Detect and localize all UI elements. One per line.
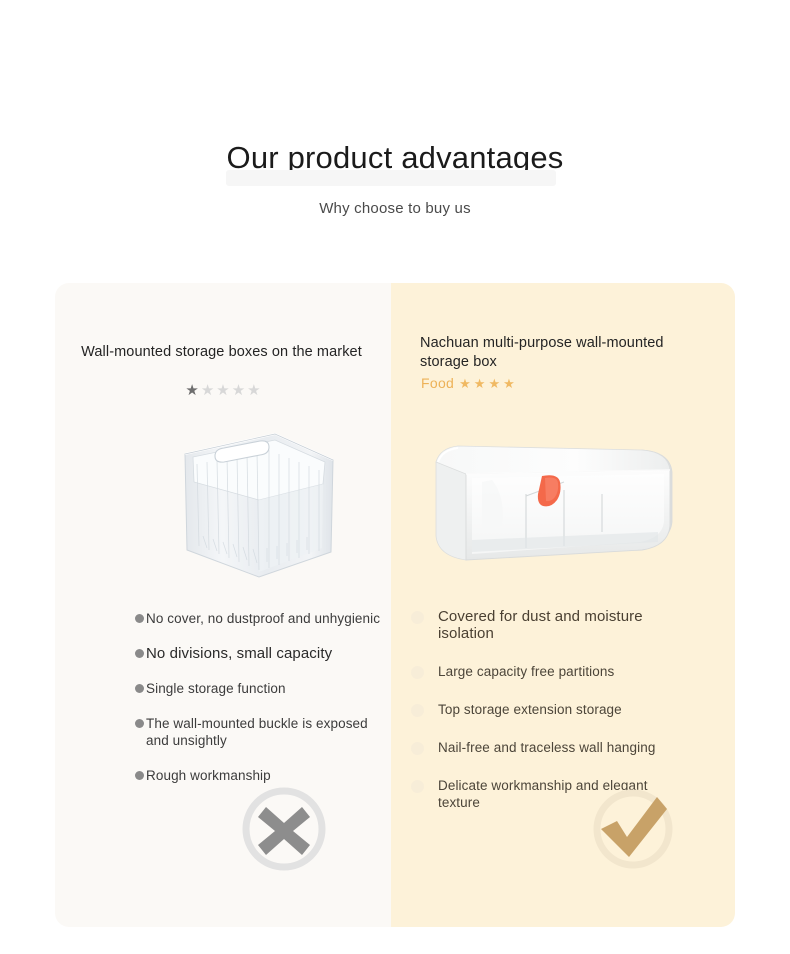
list-item: The wall-mounted buckle is exposed and u… xyxy=(135,715,385,749)
bullet-icon xyxy=(135,684,144,693)
list-item: Single storage function xyxy=(135,680,385,697)
competitor-feature-list: No cover, no dustproof and unhygienic No… xyxy=(135,610,385,802)
bullet-icon xyxy=(135,771,144,780)
star-icon: ★ xyxy=(474,376,486,391)
check-badge-icon xyxy=(591,787,675,871)
star-icon: ★ xyxy=(459,376,471,391)
our-product-image xyxy=(406,420,726,585)
page-title: Our product advantages xyxy=(0,0,790,178)
our-product-rating: Food ★ ★ ★ ★ xyxy=(421,375,701,391)
list-item: Rough workmanship xyxy=(135,767,385,784)
our-product-panel: Nachuan multi-purpose wall-mounted stora… xyxy=(391,283,735,927)
competitor-title: Wall-mounted storage boxes on the market xyxy=(55,343,394,362)
list-item-label: Single storage function xyxy=(146,681,286,696)
bullet-icon xyxy=(135,614,144,623)
star-icon: ★ xyxy=(201,383,214,398)
list-item: Large capacity free partitions xyxy=(400,663,665,680)
competitor-product-image xyxy=(163,420,353,585)
title-ghost-band xyxy=(226,170,556,186)
comparison-card: Wall-mounted storage boxes on the market… xyxy=(55,283,735,927)
bullet-icon xyxy=(411,704,424,717)
bullet-icon xyxy=(411,780,424,793)
bullet-icon xyxy=(135,649,144,658)
star-icon: ★ xyxy=(216,383,229,398)
list-item: No divisions, small capacity xyxy=(135,645,385,662)
bullet-icon xyxy=(411,611,424,624)
bullet-icon xyxy=(135,719,144,728)
list-item: Top storage extension storage xyxy=(400,701,665,718)
list-item: Covered for dust and moisture isolation xyxy=(400,608,665,642)
list-item-label: No divisions, small capacity xyxy=(146,645,332,662)
list-item: No cover, no dustproof and unhygienic xyxy=(135,610,385,627)
competitor-panel: Wall-mounted storage boxes on the market… xyxy=(55,283,391,927)
list-item-label: Nail-free and traceless wall hanging xyxy=(438,740,655,755)
list-item-label: Top storage extension storage xyxy=(438,702,622,717)
list-item-label: Large capacity free partitions xyxy=(438,664,614,679)
star-icon: ★ xyxy=(488,376,500,391)
bullet-icon xyxy=(411,666,424,679)
star-icon: ★ xyxy=(232,383,245,398)
rating-label: Food xyxy=(421,375,454,391)
list-item-label: Covered for dust and moisture isolation xyxy=(438,608,643,642)
page-header: Our product advantages Why choose to buy… xyxy=(0,0,790,217)
list-item-label: No cover, no dustproof and unhygienic xyxy=(146,611,380,626)
our-product-title: Nachuan multi-purpose wall-mounted stora… xyxy=(420,334,700,372)
cross-badge-icon xyxy=(242,787,326,871)
list-item-label: The wall-mounted buckle is exposed and u… xyxy=(146,716,368,748)
star-icon: ★ xyxy=(247,383,260,398)
list-item: Nail-free and traceless wall hanging xyxy=(400,739,665,756)
list-item-label: Rough workmanship xyxy=(146,768,271,783)
star-icon: ★ xyxy=(185,383,198,398)
bullet-icon xyxy=(411,742,424,755)
star-icon: ★ xyxy=(503,376,515,391)
competitor-rating: ★ ★ ★ ★ ★ xyxy=(55,383,391,398)
